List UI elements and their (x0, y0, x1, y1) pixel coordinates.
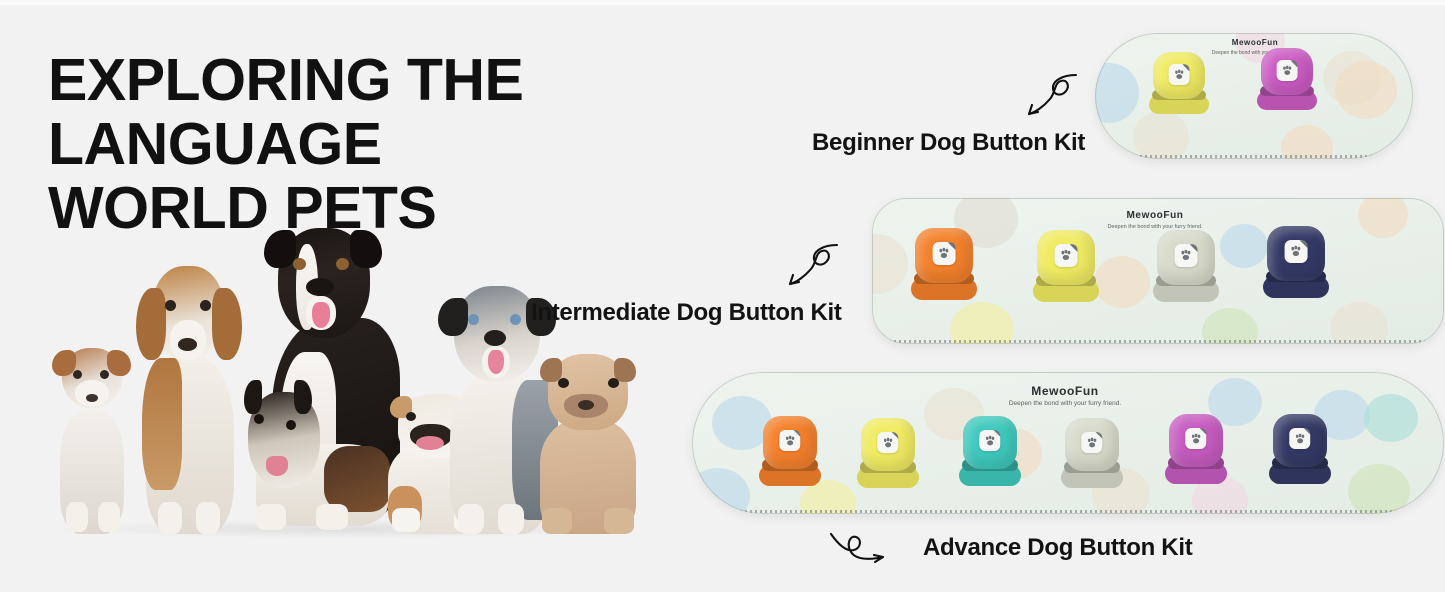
brand-name-intermediate: MewooFun (1095, 210, 1215, 221)
paw-print-icon (1059, 248, 1074, 263)
paw-print-icon (783, 434, 797, 448)
paw-print-icon (983, 434, 997, 448)
mat-dot (1364, 394, 1418, 442)
dog-button-beginner-2[interactable] (1256, 48, 1318, 110)
mat-dot (1330, 302, 1388, 344)
label-beginner-kit: Beginner Dog Button Kit (812, 129, 1085, 157)
mat-dot (1094, 256, 1150, 308)
button-cap (1157, 230, 1214, 285)
loop-arrow-right-icon-advance (828, 528, 890, 566)
dog-button-advance-6[interactable] (1268, 414, 1332, 484)
button-cap (963, 416, 1017, 469)
mat-edge-stitch (715, 510, 1422, 513)
dog-jack-russell (44, 344, 140, 534)
dog-button-advance-3[interactable] (958, 416, 1022, 486)
paw-print-icon (1289, 244, 1304, 259)
dog-button-beginner-1[interactable] (1148, 52, 1210, 114)
mat-edge-stitch (1105, 155, 1404, 158)
label-intermediate-kit: Intermediate Dog Button Kit (531, 299, 842, 327)
button-cap (861, 418, 915, 471)
dog-bull-terrier (220, 380, 396, 534)
mat-dot (1202, 308, 1258, 344)
brand-tagline-advance: Deepen the bond with your furry friend. (980, 400, 1150, 407)
button-face-label (1277, 60, 1298, 81)
button-cap (1037, 230, 1094, 285)
paw-print-icon (937, 246, 952, 261)
button-face-label (1175, 244, 1198, 267)
button-face-label (779, 430, 801, 452)
button-cap (1267, 226, 1324, 281)
mat-dot (1335, 61, 1397, 119)
button-cap (1169, 414, 1223, 467)
paw-print-icon (1172, 68, 1185, 81)
dog-button-advance-4[interactable] (1060, 418, 1124, 488)
mat-dot (1281, 125, 1333, 159)
button-face-label (1185, 428, 1207, 450)
page-title: EXPLORING THE LANGUAGE WORLD PETS (48, 48, 808, 240)
mat-dot (1133, 111, 1189, 159)
button-face-label (933, 242, 956, 265)
button-face-label (979, 430, 1001, 452)
mat-dot (1348, 464, 1410, 514)
button-cap (1065, 418, 1119, 471)
headline-line-1: EXPLORING THE LANGUAGE (48, 47, 523, 177)
mat-dot (692, 468, 750, 514)
mat-dot (1358, 198, 1408, 238)
button-cap (1261, 48, 1313, 95)
curly-arrow-up-left-icon-intermediate (787, 242, 841, 288)
dog-merle-bulldog (530, 350, 646, 534)
dog-button-advance-5[interactable] (1164, 414, 1228, 484)
mat-dot (1095, 63, 1139, 123)
button-face-label (1289, 428, 1311, 450)
dog-button-intermediate-2[interactable] (1032, 230, 1100, 302)
mat-edge-stitch (889, 340, 1427, 343)
button-cap (1273, 414, 1327, 467)
dog-button-intermediate-3[interactable] (1152, 230, 1220, 302)
button-face-label (1285, 240, 1308, 263)
dog-button-advance-2[interactable] (856, 418, 920, 488)
paw-print-icon (1179, 248, 1194, 263)
mat-dot (950, 302, 1014, 344)
mat-dot (872, 234, 908, 294)
brand-name-advance: MewooFun (1000, 384, 1130, 398)
dogs-group-photo (34, 222, 634, 534)
paw-print-icon (1293, 432, 1307, 446)
button-face-label (1081, 432, 1103, 454)
button-face-label (1169, 64, 1190, 85)
dog-button-advance-1[interactable] (758, 416, 822, 486)
dog-button-intermediate-4[interactable] (1262, 226, 1330, 298)
button-cap (915, 228, 972, 283)
top-strip (0, 0, 1445, 5)
dog-button-intermediate-1[interactable] (910, 228, 978, 300)
brand-name-beginner: MewooFun (1195, 38, 1315, 47)
mat-dot (1220, 224, 1268, 268)
button-face-label (877, 432, 899, 454)
curly-arrow-up-left-icon-beginner (1026, 72, 1080, 118)
paw-print-icon (1280, 64, 1293, 77)
paw-print-icon (881, 436, 895, 450)
button-face-label (1055, 244, 1078, 267)
page-canvas: EXPLORING THE LANGUAGE WORLD PETS (0, 0, 1445, 592)
paw-print-icon (1085, 436, 1099, 450)
label-advance-kit: Advance Dog Button Kit (923, 534, 1192, 562)
paw-print-icon (1189, 432, 1203, 446)
button-cap (763, 416, 817, 469)
button-cap (1153, 52, 1205, 99)
